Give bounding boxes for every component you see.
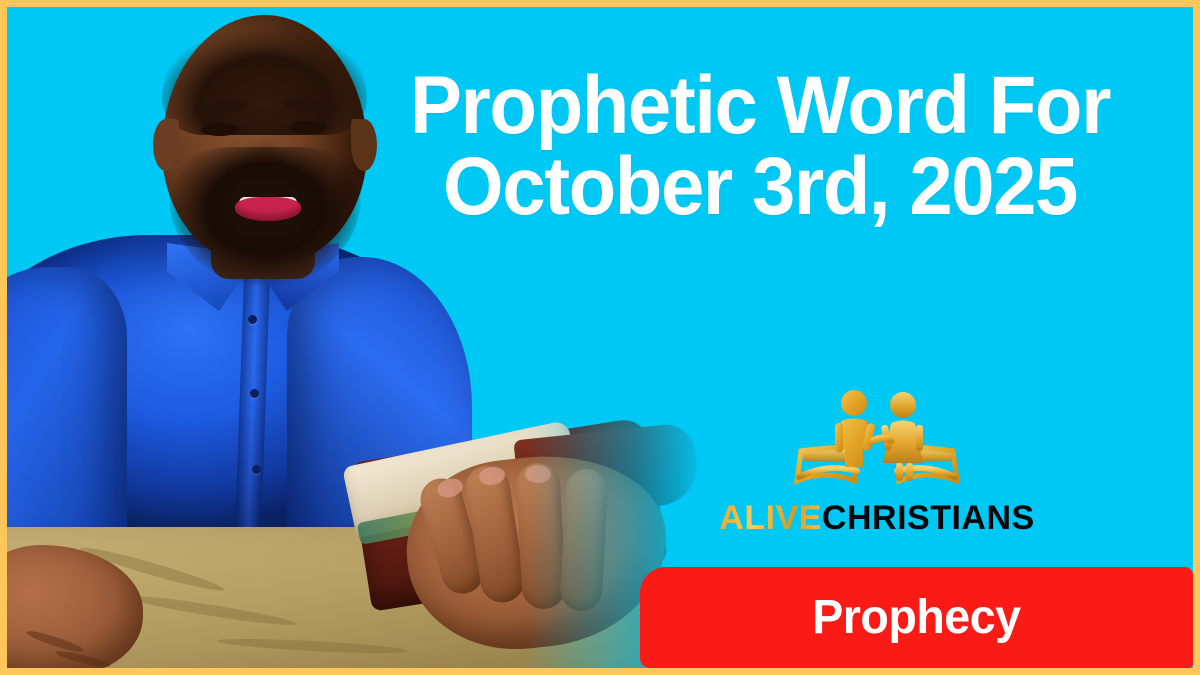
- thumbnail-stage: Prophetic Word For October 3rd, 2025: [7, 7, 1193, 668]
- shoulder-left: [7, 267, 127, 567]
- shirt-button: [252, 465, 261, 474]
- shirt-button: [250, 389, 259, 398]
- category-banner: Prophecy: [640, 567, 1193, 668]
- category-label: Prophecy: [812, 594, 1020, 642]
- eye-right: [289, 121, 327, 134]
- mouth: [235, 197, 301, 221]
- page-title: Prophetic Word For October 3rd, 2025: [387, 65, 1133, 227]
- ear-right: [351, 119, 377, 171]
- man-and-woman-on-open-book-icon: [707, 385, 1047, 497]
- logo-wordmark: ALIVECHRISTIANS: [707, 499, 1047, 538]
- title-line-2: October 3rd, 2025: [406, 146, 1115, 227]
- title-line-1: Prophetic Word For: [406, 65, 1115, 146]
- hair: [162, 15, 367, 135]
- eye-left: [201, 123, 239, 136]
- ear-left: [153, 119, 179, 171]
- logo-word-alive: ALIVE: [719, 499, 822, 537]
- finger: [515, 462, 567, 610]
- finger: [559, 468, 608, 612]
- shirt-button: [248, 315, 257, 324]
- brand-logo: ALIVECHRISTIANS: [707, 385, 1047, 538]
- fingernail: [525, 465, 551, 483]
- logo-word-christians: CHRISTIANS: [822, 499, 1035, 537]
- video-thumbnail: Prophetic Word For October 3rd, 2025: [0, 0, 1200, 675]
